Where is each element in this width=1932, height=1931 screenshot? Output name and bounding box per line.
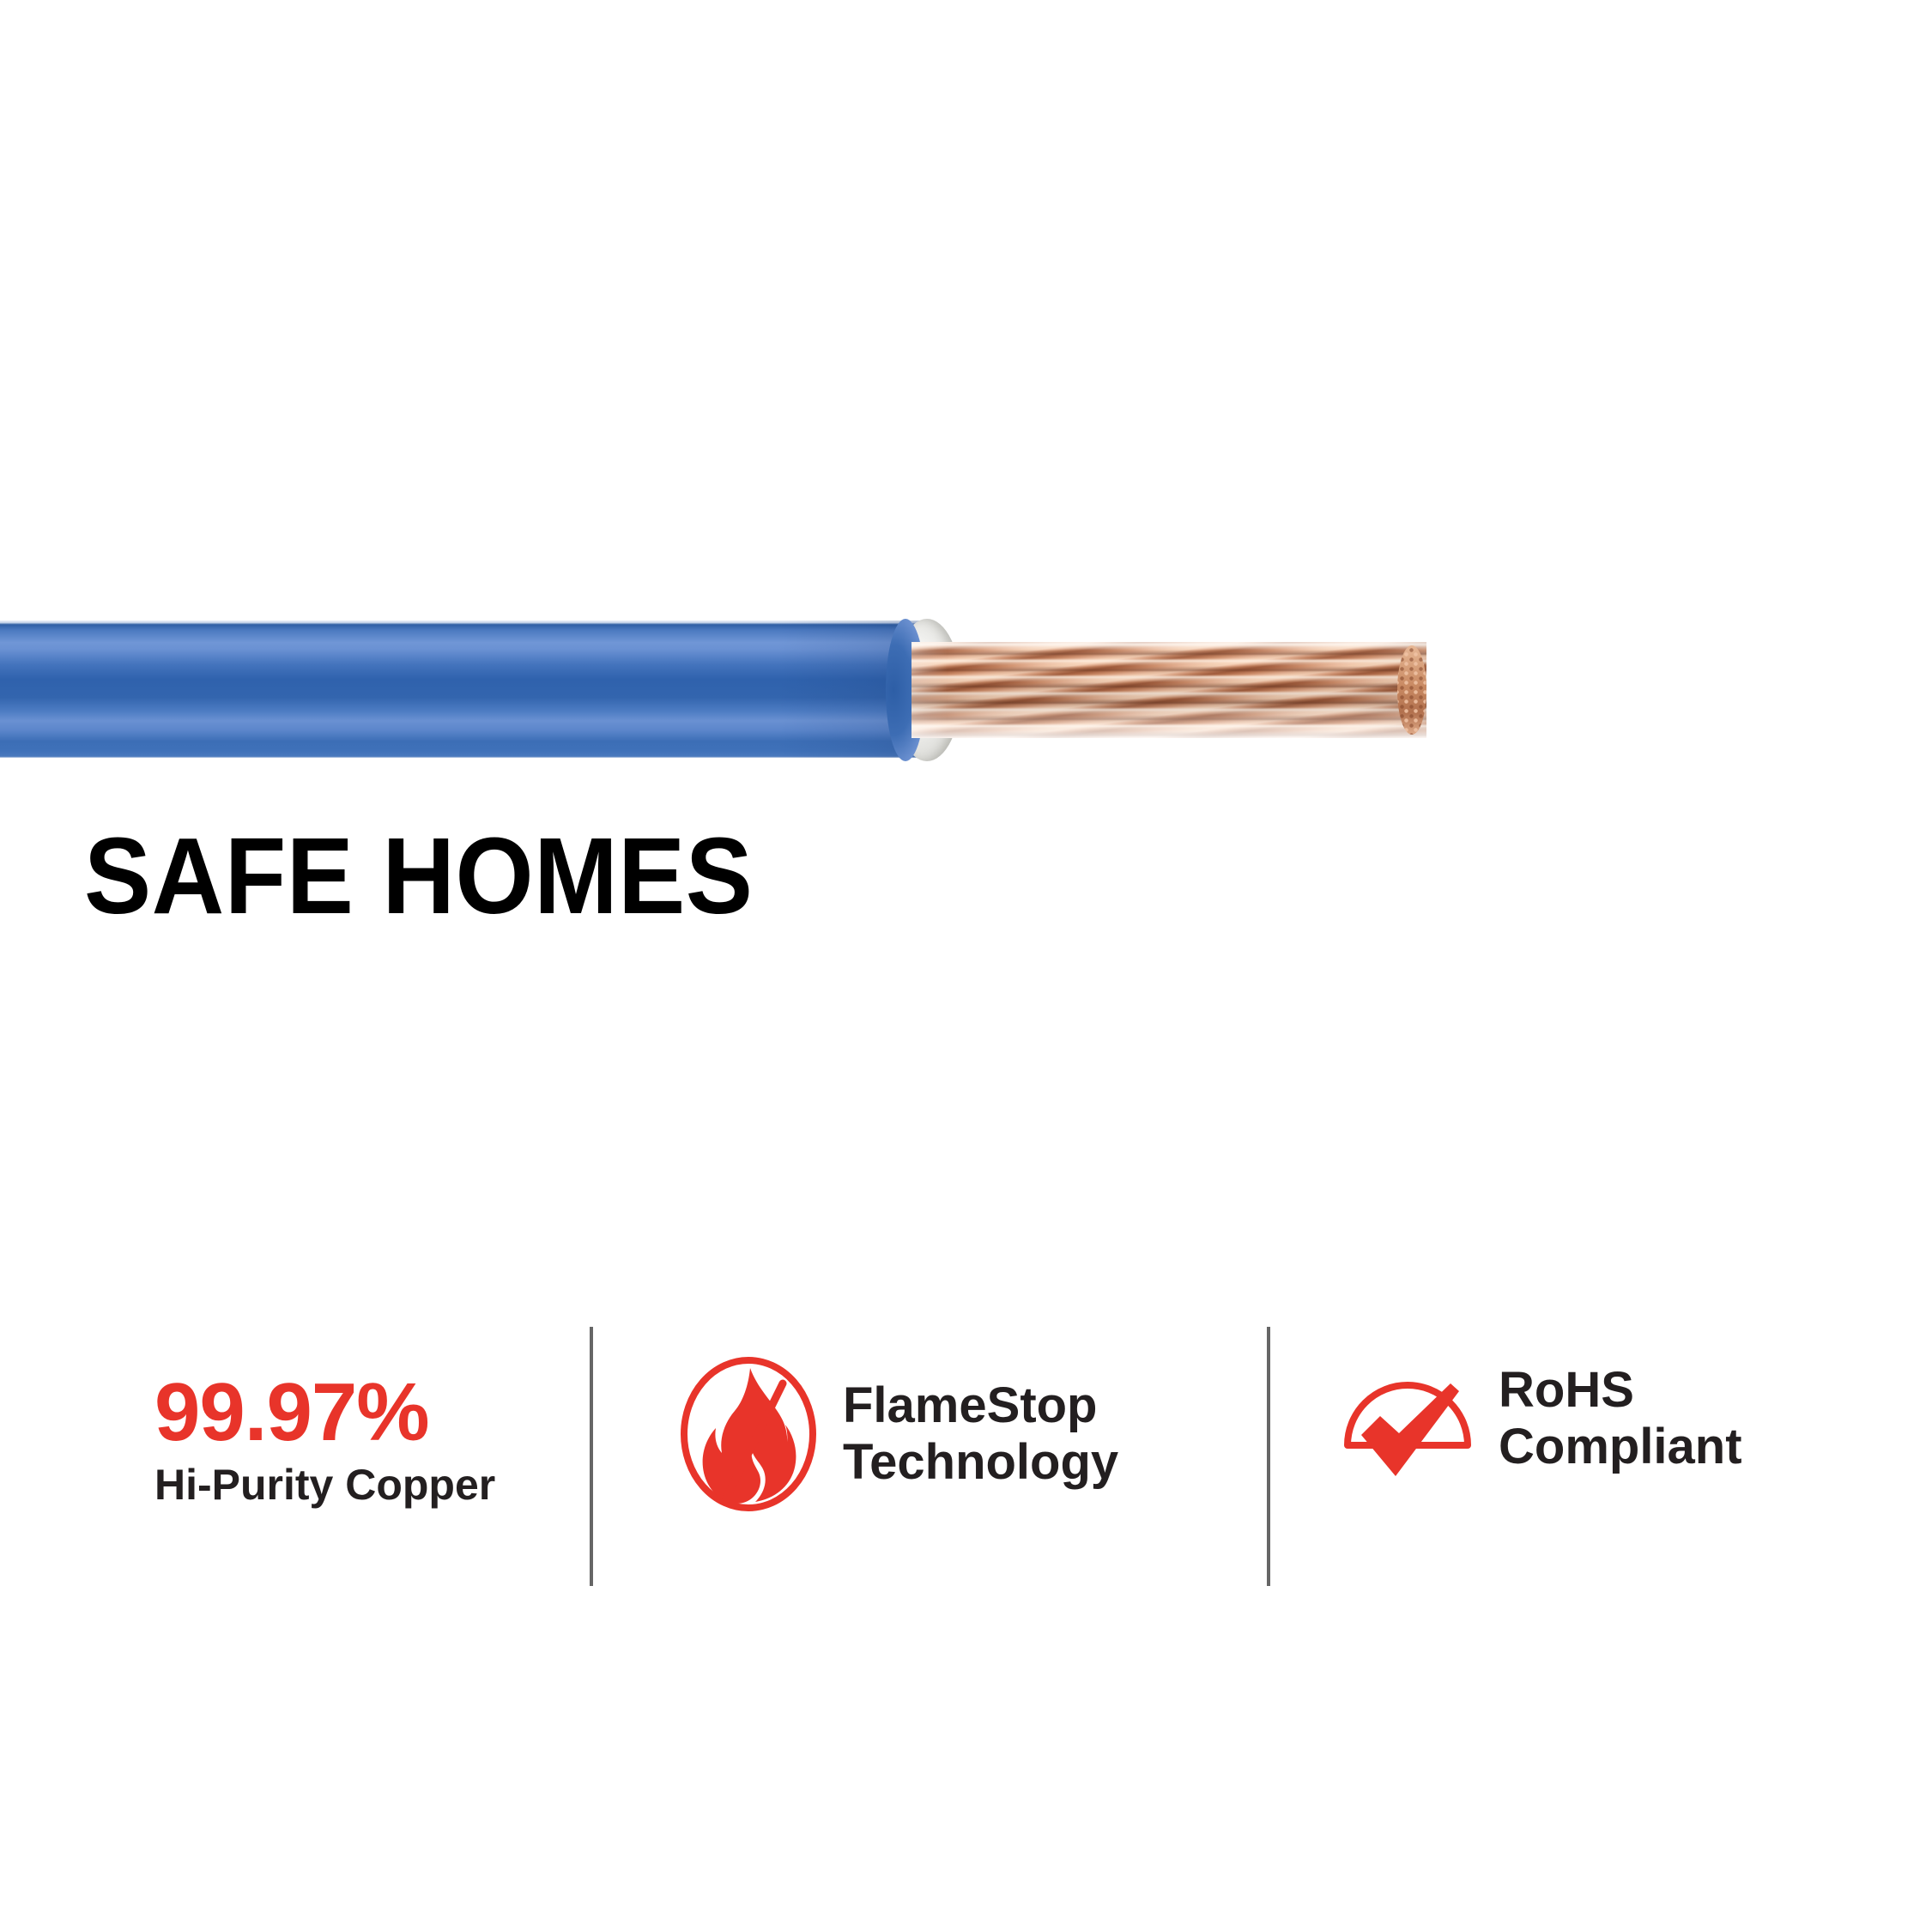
feature-flamestop-technology: FlameStop Technology <box>676 1353 1118 1516</box>
purity-label: Hi-Purity Copper <box>154 1461 495 1510</box>
feature-hi-purity-copper: 99.97% Hi-Purity Copper <box>154 1371 495 1510</box>
rohs-label: RoHS Compliant <box>1499 1362 1742 1475</box>
rohs-check-icon <box>1339 1356 1476 1481</box>
cable-product-image <box>0 616 1459 766</box>
feature-divider-2 <box>1267 1327 1270 1586</box>
feature-divider-1 <box>590 1327 593 1586</box>
feature-badges-row: 99.97% Hi-Purity Copper FlameStop Techno… <box>0 1322 1932 1596</box>
copper-cylinder-shading <box>911 642 1426 738</box>
no-flame-icon <box>676 1353 821 1516</box>
purity-percentage-value: 99.97% <box>154 1371 429 1454</box>
flamestop-label: FlameStop Technology <box>843 1377 1118 1491</box>
feature-rohs-compliant: RoHS Compliant <box>1339 1356 1742 1481</box>
copper-conductor-bundle <box>911 642 1426 738</box>
product-marketing-banner: SAFE HOMES 99.97% Hi-Purity Copper Flame… <box>0 0 1932 1931</box>
copper-cut-cross-section <box>1397 645 1426 735</box>
page-title: SAFE HOMES <box>84 822 753 930</box>
